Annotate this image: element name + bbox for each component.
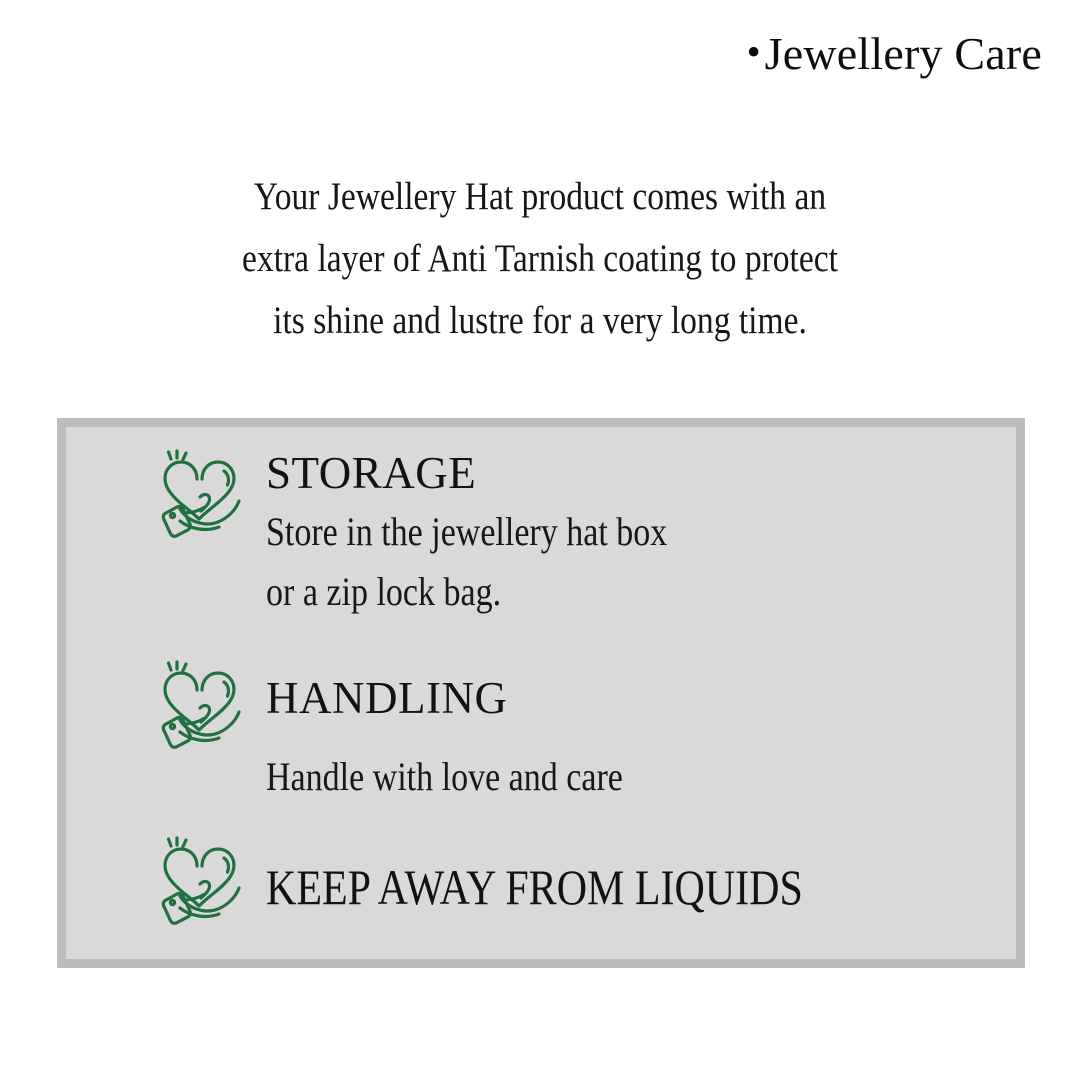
- care-description-line-2: or a zip lock bag.: [266, 562, 667, 622]
- heart-in-hand-icon: [150, 449, 250, 549]
- care-instructions-panel: STORAGE Store in the jewellery hat box o…: [57, 418, 1025, 968]
- care-description-line-1: Handle with love and care: [266, 747, 623, 807]
- intro-line-1: Your Jewellery Hat product comes with an: [119, 166, 962, 228]
- care-description: Handle with love and care: [266, 747, 686, 807]
- heart-in-hand-icon: [150, 660, 250, 760]
- page-title-text: Jewellery Care: [765, 30, 1042, 78]
- care-description: Store in the jewellery hat box or a zip …: [266, 502, 738, 622]
- care-heading: STORAGE: [266, 451, 738, 496]
- care-item-text: KEEP AWAY FROM LIQUIDS: [266, 836, 905, 912]
- care-item-keep-away-from-liquids: KEEP AWAY FROM LIQUIDS: [150, 836, 905, 936]
- care-item-text: HANDLING Handle with love and care: [266, 660, 686, 807]
- page-title: •Jewellery Care: [0, 30, 1042, 78]
- bullet-icon: •: [747, 32, 761, 72]
- intro-line-2: extra layer of Anti Tarnish coating to p…: [119, 228, 962, 290]
- care-description-line-1: Store in the jewellery hat box: [266, 502, 667, 562]
- care-item-text: STORAGE Store in the jewellery hat box o…: [266, 449, 738, 622]
- care-items-list: STORAGE Store in the jewellery hat box o…: [66, 427, 1016, 959]
- care-heading: HANDLING: [266, 676, 686, 721]
- heart-in-hand-icon: [150, 836, 250, 936]
- intro-paragraph: Your Jewellery Hat product comes with an…: [50, 166, 1030, 352]
- care-item-storage: STORAGE Store in the jewellery hat box o…: [150, 449, 738, 622]
- care-item-handling: HANDLING Handle with love and care: [150, 660, 686, 807]
- care-heading: KEEP AWAY FROM LIQUIDS: [266, 862, 803, 912]
- intro-line-3: its shine and lustre for a very long tim…: [119, 290, 962, 352]
- jewellery-care-card: •Jewellery Care Your Jewellery Hat produ…: [0, 0, 1080, 1080]
